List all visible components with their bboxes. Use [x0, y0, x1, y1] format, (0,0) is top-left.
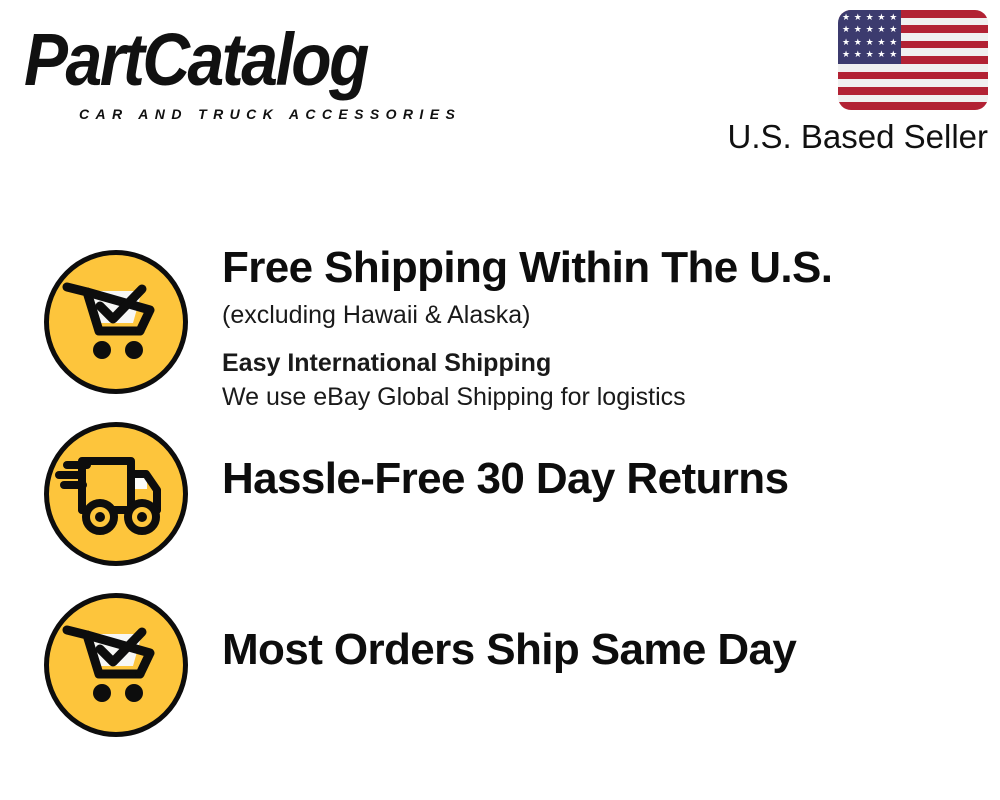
us-based-seller-label: U.S. Based Seller — [728, 118, 988, 156]
feature-row: Free Shipping Within The U.S. (excluding… — [0, 236, 1000, 408]
flag-star: ★ — [854, 39, 861, 46]
flag-stripe — [838, 64, 988, 72]
feature-title: Hassle-Free 30 Day Returns — [222, 453, 992, 505]
brand-tagline: CAR AND TRUCK ACCESSORIES — [79, 106, 461, 122]
brand-wordmark: PartCatalog — [24, 18, 367, 101]
feature-row: Hassle-Free 30 Day Returns — [0, 408, 1000, 580]
feature-text-block: Most Orders Ship Same Day — [222, 624, 992, 676]
flag-stripe — [838, 87, 988, 95]
brand-logo[interactable]: PartCatalog CAR AND TRUCK ACCESSORIES — [24, 18, 494, 114]
flag-star: ★ — [877, 14, 884, 21]
page-header: PartCatalog CAR AND TRUCK ACCESSORIES ★★… — [0, 0, 1000, 180]
flag-star: ★ — [889, 51, 896, 58]
feature-row: Most Orders Ship Same Day — [0, 579, 1000, 751]
flag-star: ★ — [877, 39, 884, 46]
flag-star: ★ — [842, 51, 849, 58]
flag-star: ★ — [889, 14, 896, 21]
flag-star: ★ — [842, 39, 849, 46]
feature-subtext-excluding: (excluding Hawaii & Alaska) — [222, 298, 992, 332]
flag-stripe — [838, 79, 988, 87]
flag-star: ★ — [877, 51, 884, 58]
feature-text-block: Free Shipping Within The U.S. (excluding… — [222, 242, 992, 414]
flag-stripe — [838, 95, 988, 103]
us-flag-icon: ★★★★★★★★★★★★★★★★★★★★ — [838, 10, 988, 110]
flag-star: ★ — [854, 14, 861, 21]
flag-stripe — [838, 102, 988, 110]
flag-star: ★ — [854, 51, 861, 58]
flag-star: ★ — [854, 26, 861, 33]
flag-stripe — [838, 72, 988, 80]
flag-star: ★ — [842, 14, 849, 21]
shopping-cart-check-icon — [44, 250, 188, 394]
flag-star: ★ — [866, 14, 873, 21]
feature-subtext-international: Easy International Shipping — [222, 346, 992, 380]
delivery-truck-icon — [44, 422, 188, 566]
shopping-cart-check-icon — [44, 593, 188, 737]
flag-canton: ★★★★★★★★★★★★★★★★★★★★ — [838, 10, 901, 64]
feature-title: Free Shipping Within The U.S. — [222, 242, 992, 294]
feature-text-block: Hassle-Free 30 Day Returns — [222, 453, 992, 505]
feature-title: Most Orders Ship Same Day — [222, 624, 992, 676]
flag-star: ★ — [842, 26, 849, 33]
flag-star: ★ — [889, 39, 896, 46]
flag-star: ★ — [866, 26, 873, 33]
flag-star: ★ — [866, 39, 873, 46]
flag-star: ★ — [877, 26, 884, 33]
flag-star: ★ — [889, 26, 896, 33]
flag-star: ★ — [866, 51, 873, 58]
